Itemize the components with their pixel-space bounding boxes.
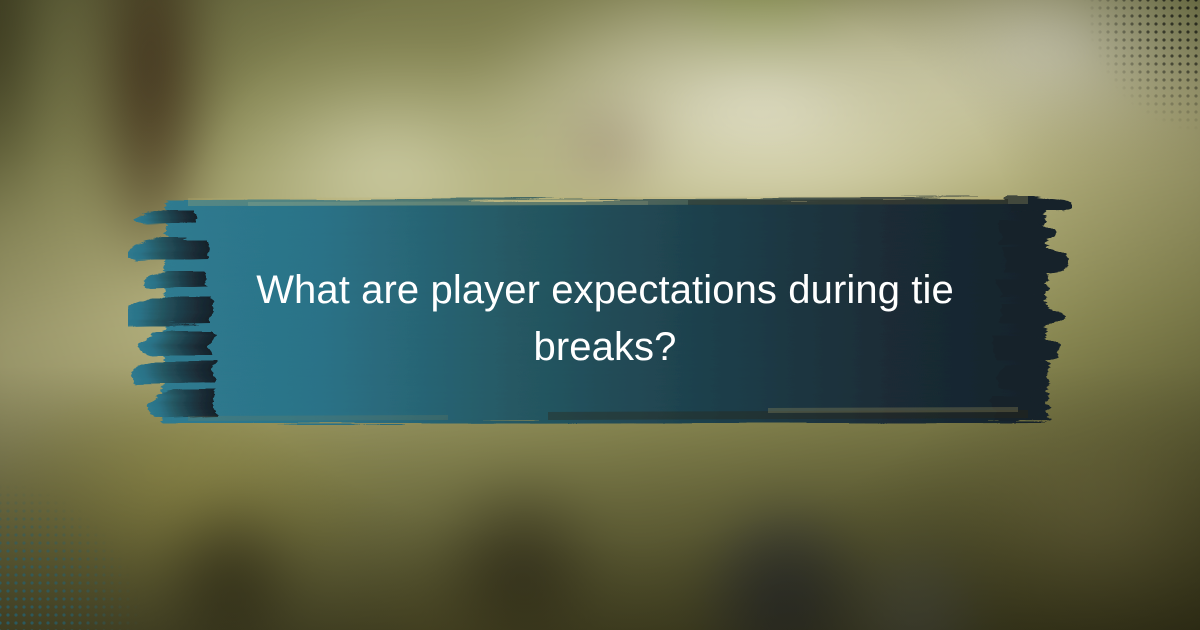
page-title: What are player expectations during tie … (190, 262, 1020, 376)
share-card-canvas: What are player expectations during tie … (0, 0, 1200, 630)
